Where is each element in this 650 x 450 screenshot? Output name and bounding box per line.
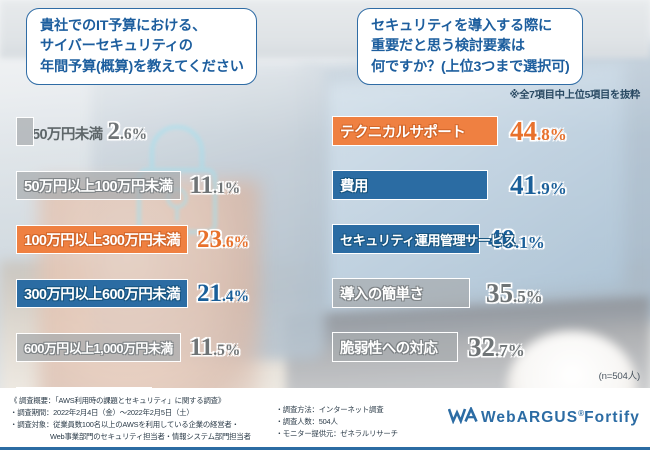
factors-chart: テクニカルサポート 44.8% 費用 41.9% セキュリティ運用管理サービス … <box>318 104 650 374</box>
infographic-canvas: 貴社でのIT予算における、 サイバーセキュリティの 年間予算(概算)を教えてくだ… <box>0 0 650 450</box>
sample-size-label: (n=504人) <box>599 368 640 382</box>
bar-value-factor-1-int: 44 <box>510 116 537 146</box>
bar-factor-2: 費用 <box>332 170 488 200</box>
question-right-bubble: セキュリティを導入する際に 重要だと思う検討要素は 何ですか？(上位3つまで選択… <box>357 8 583 85</box>
bar-label-budget-3: 100万円以上300万円未満 <box>24 229 180 250</box>
bar-value-budget-3-int: 23 <box>197 226 222 253</box>
survey-overview-title: 《 調査概要：「AWS利用時の課題とセキュリティ」に関する調査》 <box>10 395 276 407</box>
bar-value-budget-2-int: 11 <box>190 172 214 199</box>
bar-label-factor-4: 導入の簡単さ <box>340 283 423 304</box>
bar-label-factor-5: 脆弱性への対応 <box>340 337 437 358</box>
bar-factor-3: セキュリティ運用管理サービス <box>332 224 480 254</box>
bar-value-factor-1-dec: .8% <box>537 125 567 144</box>
brand-logo-text: WebARGUS®Fortify <box>481 409 640 427</box>
excerpt-note: ※全7項目中上位5項目を抜粋 <box>357 86 640 101</box>
bar-value-budget-1-int: 2 <box>108 118 121 145</box>
bar-value-factor-3-dec: .1% <box>515 233 545 252</box>
table-row: 100万円以上300万円未満 23.6% <box>0 212 330 266</box>
question-left-line-1: 貴社でのIT予算における、 <box>40 16 244 36</box>
table-row: 費用 41.9% <box>318 158 650 212</box>
table-row: 300万円以上600万円未満 21.4% <box>0 266 330 320</box>
question-left-bubble: 貴社でのIT予算における、 サイバーセキュリティの 年間予算(概算)を教えてくだ… <box>26 8 257 85</box>
brand-logo: WebARGUS®Fortify <box>448 395 640 429</box>
bar-value-budget-5-dec: .5% <box>213 342 240 359</box>
bar-value-budget-4-int: 21 <box>197 280 222 307</box>
table-row: 50万円未満 2.6% <box>0 104 330 158</box>
brand-suffix: Fortify <box>584 409 640 426</box>
survey-monitor-source: ・モニター提供元：ゼネラルリサーチ <box>276 428 448 440</box>
survey-footer: 《 調査概要：「AWS利用時の課題とセキュリティ」に関する調査》 ・調査期間：2… <box>0 388 650 450</box>
survey-overview-column: 《 調査概要：「AWS利用時の課題とセキュリティ」に関する調査》 ・調査期間：2… <box>10 395 276 443</box>
survey-target-cont: Web事業部門のセキュリティ担当者・情報システム部門担当者 <box>10 431 276 443</box>
table-row: 600万円以上1,000万円未満 11.5% <box>0 320 330 374</box>
bar-label-factor-3: セキュリティ運用管理サービス <box>340 230 515 249</box>
question-left-line-2: サイバーセキュリティの <box>40 36 244 56</box>
bar-value-budget-3-dec: .6% <box>222 234 249 251</box>
bar-factor-5: 脆弱性への対応 <box>332 332 458 362</box>
wa-mark-icon <box>448 407 478 429</box>
bar-value-budget-2-dec: .1% <box>213 180 240 197</box>
question-right-line-2: 重要だと思う検討要素は <box>371 36 570 56</box>
survey-method: ・調査方法：インターネット調査 <box>276 404 448 416</box>
survey-target: ・調査対象：従業員数100名以上のAWSを利用している企業の経営者・ <box>10 419 276 431</box>
bar-value-factor-4-dec: .5% <box>513 287 543 306</box>
table-row: 導入の簡単さ 35.5% <box>318 266 650 320</box>
bar-budget-4: 300万円以上600万円未満 <box>16 279 188 308</box>
question-right-line-1: セキュリティを導入する際に <box>371 16 570 36</box>
survey-count: ・調査人数：504人 <box>276 416 448 428</box>
bar-label-budget-1: 50万円未満 <box>32 128 103 143</box>
question-left-line-3: 年間予算(概算)を教えてください <box>40 57 244 77</box>
bar-label-budget-5: 600万円以上1,000万円未満 <box>24 338 173 357</box>
bar-factor-4: 導入の簡単さ <box>332 278 470 308</box>
bar-label-budget-4: 300万円以上600万円未満 <box>24 283 180 304</box>
bar-value-factor-5-int: 32 <box>468 332 495 362</box>
bar-label-budget-2: 50万円以上100万円未満 <box>24 175 173 196</box>
bar-budget-3: 100万円以上300万円未満 <box>16 225 188 254</box>
survey-period: ・調査期間：2022年2月4日（金）〜2022年2月5日（土） <box>10 407 276 419</box>
bar-budget-2: 50万円以上100万円未満 <box>16 171 181 200</box>
question-right-line-3: 何ですか？(上位3つまで選択可) <box>371 57 570 77</box>
bar-value-budget-5-int: 11 <box>190 334 214 361</box>
bar-budget-5: 600万円以上1,000万円未満 <box>16 333 181 362</box>
table-row: 脆弱性への対応 32.7% <box>318 320 650 374</box>
budget-chart: 50万円未満 2.6% 50万円以上100万円未満 11.1% 100万円以上3… <box>0 104 330 428</box>
bar-value-factor-4-int: 35 <box>486 278 513 308</box>
bar-value-factor-2-int: 41 <box>510 170 537 200</box>
bar-label-factor-2: 費用 <box>340 175 368 196</box>
bar-value-budget-4-dec: .4% <box>222 288 249 305</box>
table-row: セキュリティ運用管理サービス 40.1% <box>318 212 650 266</box>
question-header-row: 貴社でのIT予算における、 サイバーセキュリティの 年間予算(概算)を教えてくだ… <box>0 8 650 92</box>
bar-label-factor-1: テクニカルサポート <box>340 121 465 142</box>
bar-factor-1: テクニカルサポート <box>332 116 498 146</box>
bar-value-budget-1-dec: .6% <box>120 126 147 143</box>
bar-value-factor-5-dec: .7% <box>495 341 525 360</box>
brand-name: WebARGUS <box>481 409 578 426</box>
bar-value-factor-2-dec: .9% <box>537 179 567 198</box>
table-row: 50万円以上100万円未満 11.1% <box>0 158 330 212</box>
survey-method-column: ・調査方法：インターネット調査 ・調査人数：504人 ・モニター提供元：ゼネラル… <box>276 395 448 440</box>
bar-budget-1 <box>16 117 34 146</box>
table-row: テクニカルサポート 44.8% <box>318 104 650 158</box>
